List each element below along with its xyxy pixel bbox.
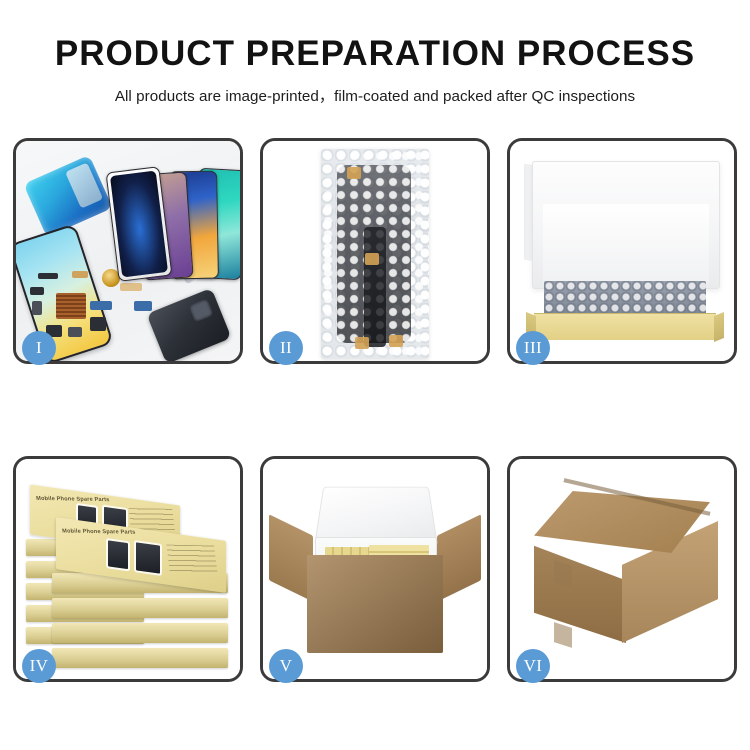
small-part (38, 273, 58, 279)
step-6-photo (510, 459, 734, 679)
step-3-photo (510, 141, 734, 361)
small-part (90, 317, 106, 331)
stacked-box (52, 598, 228, 618)
step-1-photo (16, 141, 240, 361)
step-badge-4: IV (22, 649, 56, 683)
process-steps-grid: I II (13, 138, 737, 686)
carton-face-left (534, 535, 626, 643)
page-title: PRODUCT PREPARATION PROCESS (0, 36, 750, 73)
carton-body (307, 555, 443, 653)
step-2-photo (263, 141, 487, 361)
step-panel-5: V (260, 456, 490, 682)
bubble-wrapped-contents (544, 281, 706, 317)
tape-strip (365, 253, 379, 265)
lid-window (136, 542, 160, 573)
box-label: Mobile Phone Spare Parts (62, 528, 136, 535)
lid-window (108, 540, 128, 569)
bubble-wrap-package (321, 149, 429, 359)
flex-cable-part (120, 283, 142, 291)
step-panel-1: I (13, 138, 243, 364)
logic-board-part (56, 293, 86, 319)
yellow-box-stack: Mobile Phone Spare Parts Mobile Phone Sp… (26, 477, 238, 667)
step-panel-3: III (507, 138, 737, 364)
product-preparation-infographic: PRODUCT PREPARATION PROCESS All products… (0, 0, 750, 750)
step-panel-4: Mobile Phone Spare Parts Mobile Phone Sp… (13, 456, 243, 682)
tape-strip (355, 337, 369, 349)
yellow-box-front (534, 313, 716, 340)
tape-strip (347, 167, 361, 179)
box-label: Mobile Phone Spare Parts (36, 496, 110, 503)
carton-tape-mark (554, 622, 572, 648)
page-subtitle: All products are image-printed，film-coat… (0, 84, 750, 106)
carton-flap-right (437, 514, 481, 601)
stacked-box (52, 648, 228, 668)
step-badge-6: VI (516, 649, 550, 683)
tape-strip (389, 335, 403, 347)
step-badge-5: V (269, 649, 303, 683)
small-part (30, 287, 44, 295)
small-part (72, 271, 88, 278)
step-5-photo (263, 459, 487, 679)
stacked-box (52, 623, 228, 643)
header: PRODUCT PREPARATION PROCESS All products… (0, 36, 750, 106)
step-panel-6: VI (507, 456, 737, 682)
flex-cable-part (134, 301, 152, 311)
step-badge-2: II (269, 331, 303, 365)
flex-cable-part (90, 301, 112, 310)
small-part (32, 301, 42, 315)
white-foam-lid (532, 161, 720, 289)
screen-assembly (364, 227, 386, 347)
step-panel-2: II (260, 138, 490, 364)
step-badge-1: I (22, 331, 56, 365)
phone-back-housing (146, 288, 231, 361)
small-part (68, 327, 82, 337)
step-4-photo: Mobile Phone Spare Parts Mobile Phone Sp… (16, 459, 240, 679)
lid-text-lines (166, 545, 217, 574)
phone-lineup (84, 149, 240, 279)
step-badge-3: III (516, 331, 550, 365)
